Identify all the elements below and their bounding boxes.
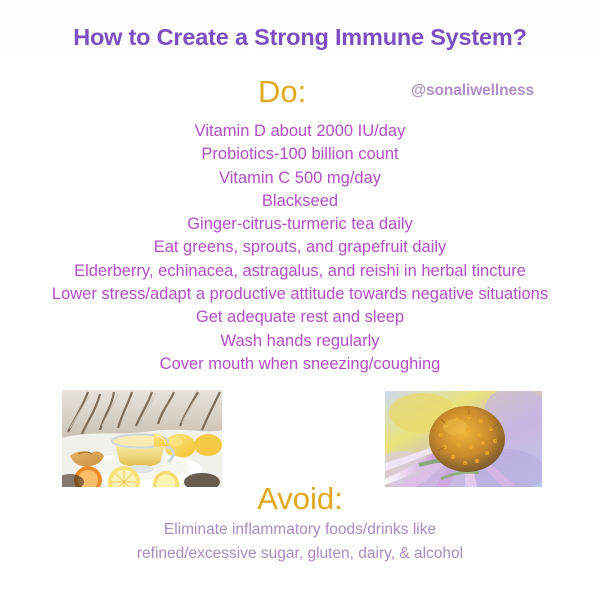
do-list: Vitamin D about 2000 IU/day Probiotics-1…: [0, 120, 600, 376]
page-title: How to Create a Strong Immune System?: [0, 24, 600, 51]
list-item: Eat greens, sprouts, and grapefruit dail…: [0, 236, 600, 259]
social-handle: @sonaliwellness: [411, 79, 534, 103]
list-item: Vitamin C 500 mg/day: [0, 167, 600, 190]
list-item: Blackseed: [0, 190, 600, 213]
list-item: Wash hands regularly: [0, 330, 600, 353]
echinacea-flower-photo: [385, 391, 542, 487]
avoid-body: Eliminate inflammatory foods/drinks like…: [0, 518, 600, 566]
list-item: Get adequate rest and sleep: [0, 306, 600, 329]
list-item: Probiotics-100 billion count: [0, 143, 600, 166]
avoid-heading: Avoid:: [0, 480, 600, 518]
list-item: Cover mouth when sneezing/coughing: [0, 353, 600, 376]
do-heading-row: Do: @sonaliwellness: [0, 74, 600, 110]
ginger-lemon-tea-photo: [62, 390, 222, 487]
list-item: Ginger-citrus-turmeric tea daily: [0, 213, 600, 236]
avoid-line: Eliminate inflammatory foods/drinks like: [0, 518, 600, 542]
list-item: Lower stress/adapt a productive attitude…: [0, 283, 600, 306]
do-heading: Do:: [258, 74, 306, 110]
avoid-line: refined/excessive sugar, gluten, dairy, …: [0, 542, 600, 566]
list-item: Vitamin D about 2000 IU/day: [0, 120, 600, 143]
list-item: Elderberry, echinacea, astragalus, and r…: [0, 260, 600, 283]
immune-system-poster: How to Create a Strong Immune System? Do…: [0, 0, 600, 600]
